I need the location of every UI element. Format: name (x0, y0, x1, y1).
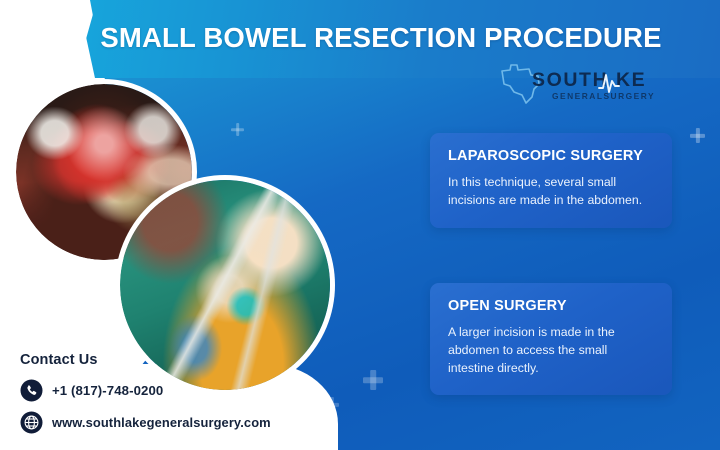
card-body: In this technique, several small incisio… (448, 174, 654, 210)
svg-text:SOUTH: SOUTH (532, 69, 608, 91)
contact-phone-text: +1 (817)-748-0200 (52, 383, 163, 398)
contact-block: Contact Us +1 (817)-748-0200 (20, 352, 350, 443)
infographic-poster: SMALL BOWEL RESECTION PROCEDURE SOUTH KE… (0, 0, 720, 450)
svg-text:GENERALSURGERY: GENERALSURGERY (552, 91, 655, 101)
brand-logo: SOUTH KE GENERALSURGERY (498, 62, 666, 106)
globe-icon (20, 411, 43, 434)
card-body: A larger incision is made in the abdomen… (448, 324, 654, 377)
contact-website-text: www.southlakegeneralsurgery.com (52, 415, 271, 430)
info-card-open-surgery: OPEN SURGERY A larger incision is made i… (430, 283, 672, 395)
contact-phone-row[interactable]: +1 (817)-748-0200 (20, 379, 350, 402)
card-heading: LAPAROSCOPIC SURGERY (448, 149, 654, 165)
card-heading: OPEN SURGERY (448, 299, 654, 315)
plus-decoration-icon (363, 370, 383, 390)
page-title: SMALL BOWEL RESECTION PROCEDURE (96, 24, 666, 52)
contact-heading: Contact Us (20, 352, 350, 368)
plus-decoration-icon (690, 128, 705, 143)
plus-decoration-icon (231, 123, 244, 136)
phone-icon (20, 379, 43, 402)
svg-text:KE: KE (616, 69, 646, 91)
info-card-laparoscopic: LAPAROSCOPIC SURGERY In this technique, … (430, 133, 672, 228)
contact-website-row[interactable]: www.southlakegeneralsurgery.com (20, 411, 350, 434)
